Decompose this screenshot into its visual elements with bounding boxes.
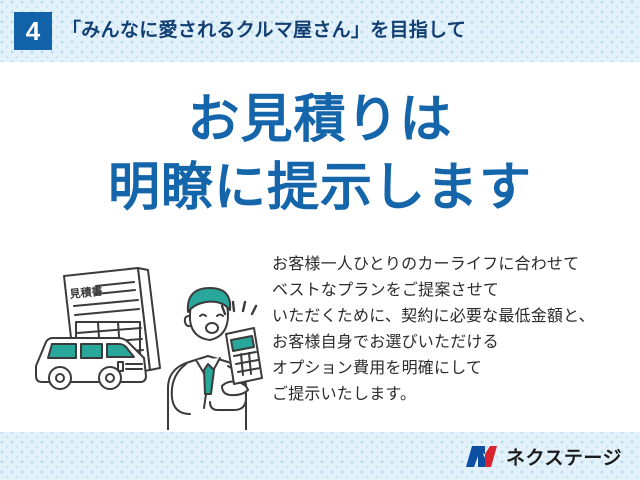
body-line-4: お客様自身でお選びいただける [272,330,632,356]
nextage-n-mark-icon [465,443,499,469]
nextage-logo: ネクステージ [465,441,622,471]
nextage-logo-text: ネクステージ [506,443,622,470]
headline: お見積りは 明瞭に提示します [0,86,640,222]
body-line-1: お客様一人ひとりのカーライフに合わせて [272,252,632,278]
header-title: 「みんなに愛されるクルマ屋さん」を目指して [62,13,466,49]
body-paragraph: お客様一人ひとりのカーライフに合わせて ベストなプランをご提案させて いただくた… [272,252,632,408]
van-icon [36,338,146,389]
body-line-2: ベストなプランをご提案させて [272,278,632,304]
headline-line-1: お見積りは [0,86,640,154]
header-band: 4 「みんなに愛されるクルマ屋さん」を目指して [0,0,640,62]
section-number-badge: 4 [14,12,52,50]
content-panel: お見積りは 明瞭に提示します [0,62,640,432]
body-line-5: オプション費用を明確にして [272,356,632,382]
body-line-6: ご提示いたします。 [272,382,632,408]
salesman-illustration: 見積書 [22,258,272,430]
advertisement-banner: 4 「みんなに愛されるクルマ屋さん」を目指して お見積りは 明瞭に提示します [0,0,640,480]
footer-band: ネクステージ [0,432,640,480]
body-line-3: いただくために、契約に必要な最低金額と、 [272,304,632,330]
headline-line-2: 明瞭に提示します [0,154,640,222]
